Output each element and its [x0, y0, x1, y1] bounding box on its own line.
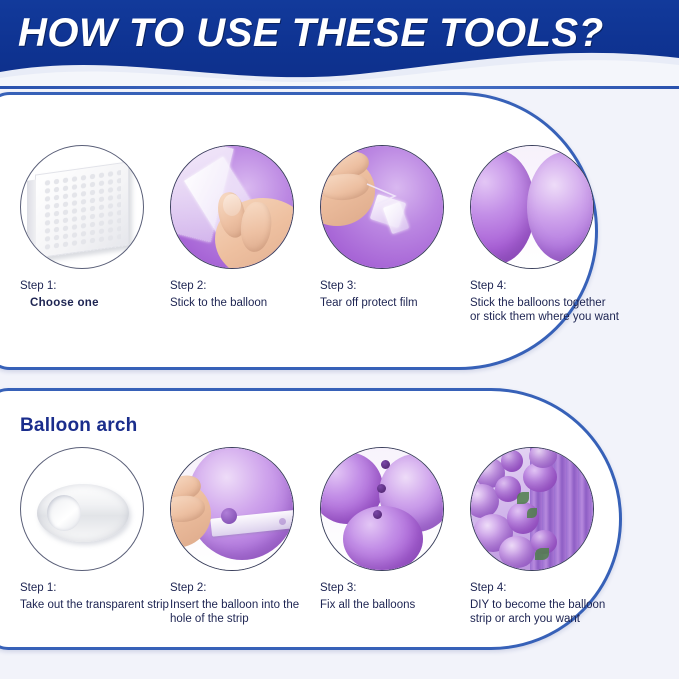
step-caption: Step 3: Fix all the balloons	[320, 581, 470, 612]
inserting-balloon-into-strip-image	[170, 447, 294, 571]
arch-balloon	[499, 536, 535, 568]
step-label: Step 4:	[470, 279, 620, 293]
fingernail	[223, 194, 241, 216]
step-card-1-3: Step 3: Tear off protect film	[320, 145, 470, 310]
knot-2	[377, 484, 386, 493]
step-text: Insert the balloon into thehole of the s…	[170, 598, 320, 626]
step-caption: Step 2: Stick to the balloon	[170, 279, 320, 310]
tape-roll-hole	[47, 495, 81, 531]
balloon-knot	[221, 508, 237, 524]
finished-balloon-arch-image	[470, 447, 594, 571]
arch-balloon	[507, 502, 539, 534]
step-card-1-2: Step 2: Stick to the balloon	[170, 145, 320, 310]
step-text: Stick the balloons togetheror stick them…	[470, 296, 620, 324]
film-edge-line	[365, 182, 411, 216]
page-header: HOW TO USE THESE TOOLS?	[0, 0, 679, 88]
step-caption: Step 1: Choose one	[20, 279, 170, 310]
step-caption: Step 2: Insert the balloon into thehole …	[170, 581, 320, 626]
dot-sheet-side	[27, 179, 36, 262]
page-title: HOW TO USE THESE TOOLS?	[18, 7, 673, 59]
transparent-tape-roll-image	[20, 447, 144, 571]
step-label: Step 3:	[320, 581, 470, 595]
panel-1-steps: Step 1: Choose one Step 2: Stick to	[0, 95, 595, 367]
greenery	[535, 548, 549, 560]
step-text: Take out the transparent strip	[20, 598, 170, 612]
greenery	[527, 508, 537, 518]
step-text: Fix all the balloons	[320, 598, 470, 612]
step-card-2-1: Step 1: Take out the transparent strip	[20, 447, 170, 612]
step-text: Stick to the balloon	[170, 296, 320, 310]
tape-highlight	[35, 470, 113, 480]
dot-sheet-grid	[43, 169, 121, 252]
step-caption: Step 1: Take out the transparent strip	[20, 581, 170, 612]
panel-2-steps: Step 1: Take out the transparent strip S…	[0, 391, 619, 647]
glue-dot-sheet-image	[20, 145, 144, 269]
step-text: Choose one	[20, 296, 170, 310]
strip-hole	[279, 518, 286, 525]
step-text: Tear off protect film	[320, 296, 470, 310]
step-card-2-2: Step 2: Insert the balloon into thehole …	[170, 447, 320, 626]
peeling-protect-film-image	[320, 145, 444, 269]
balloon-right	[527, 152, 594, 262]
step-caption: Step 4: DIY to become the balloonstrip o…	[470, 581, 620, 626]
balloon-bottom	[343, 506, 423, 571]
knot-1	[381, 460, 390, 469]
tape-roll-shape	[37, 484, 129, 542]
step-label: Step 2:	[170, 279, 320, 293]
step-card-1-1: Step 1: Choose one	[20, 145, 170, 310]
step-text: DIY to become the balloonstrip or arch y…	[470, 598, 620, 626]
knot-3	[373, 510, 382, 519]
step-label: Step 4:	[470, 581, 620, 595]
step-caption: Step 4: Stick the balloons togetheror st…	[470, 279, 620, 324]
step-card-2-3: Step 3: Fix all the balloons	[320, 447, 470, 612]
balloons-fixed-on-strip-image	[320, 447, 444, 571]
hand-sticking-film-to-balloon-image	[170, 145, 294, 269]
panel-balloon-arch: Balloon arch Step 1: Take out the transp…	[0, 388, 622, 650]
step-label: Step 1:	[20, 279, 170, 293]
step-label: Step 1:	[20, 581, 170, 595]
step-label: Step 3:	[320, 279, 470, 293]
dot-sheet-shape	[35, 161, 129, 258]
balloon-left	[470, 150, 535, 264]
greenery	[517, 492, 529, 504]
step-caption: Step 3: Tear off protect film	[320, 279, 470, 310]
step-card-1-4: Step 4: Stick the balloons togetheror st…	[470, 145, 620, 324]
step-card-2-4: Step 4: DIY to become the balloonstrip o…	[470, 447, 620, 626]
step-label: Step 2:	[170, 581, 320, 595]
header-underline	[0, 86, 679, 89]
arch-balloon	[501, 450, 523, 472]
panel-glue-dots: Step 1: Choose one Step 2: Stick to	[0, 92, 598, 370]
two-balloons-stuck-together-image	[470, 145, 594, 269]
